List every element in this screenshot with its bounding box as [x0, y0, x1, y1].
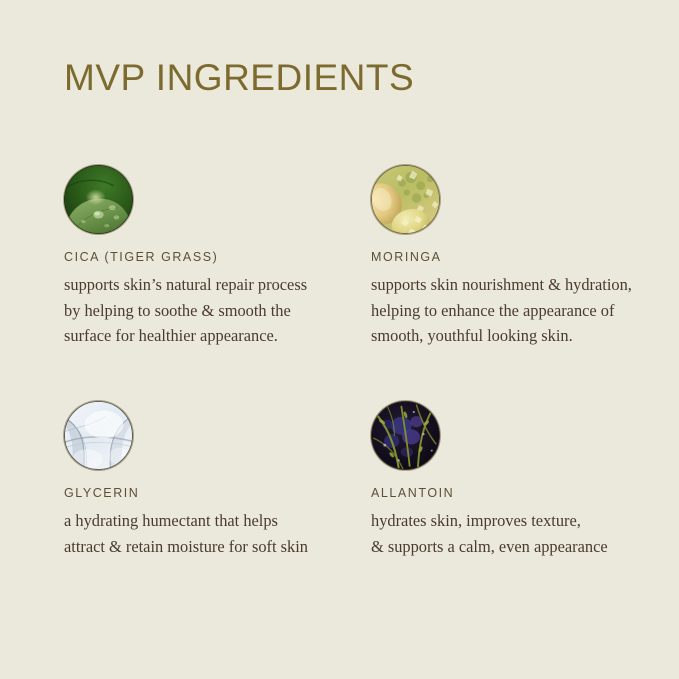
ingredient-card-glycerin: GLYCERIN a hydrating humectant that help…: [64, 401, 371, 559]
ingredients-page: MVP INGREDIENTS: [0, 0, 679, 679]
cica-leaf-photo-thumbnail: [64, 165, 133, 234]
ingredient-card-cica: CICA (TIGER GRASS) supports skin’s natur…: [64, 165, 371, 401]
ingredient-description-moringa: supports skin nourishment & hydration, h…: [371, 272, 664, 349]
ingredient-name-glycerin: GLYCERIN: [64, 486, 371, 501]
ingredient-name-moringa: MORINGA: [371, 250, 664, 265]
ingredient-description-glycerin: a hydrating humectant that helps attract…: [64, 508, 349, 559]
allantoin-flower-photo-thumbnail: [371, 401, 440, 470]
ingredient-description-allantoin: hydrates skin, improves texture, & suppo…: [371, 508, 664, 559]
ingredient-description-cica: supports skin’s natural repair process b…: [64, 272, 349, 349]
moringa-seed-photo-thumbnail: [371, 165, 440, 234]
ingredient-name-allantoin: ALLANTOIN: [371, 486, 664, 501]
glycerin-gel-photo-thumbnail: [64, 401, 133, 470]
ingredient-card-moringa: MORINGA supports skin nourishment & hydr…: [371, 165, 664, 401]
ingredients-grid: CICA (TIGER GRASS) supports skin’s natur…: [64, 165, 664, 559]
page-title: MVP INGREDIENTS: [64, 59, 414, 98]
ingredient-card-allantoin: ALLANTOIN hydrates skin, improves textur…: [371, 401, 664, 559]
ingredient-name-cica: CICA (TIGER GRASS): [64, 250, 371, 265]
